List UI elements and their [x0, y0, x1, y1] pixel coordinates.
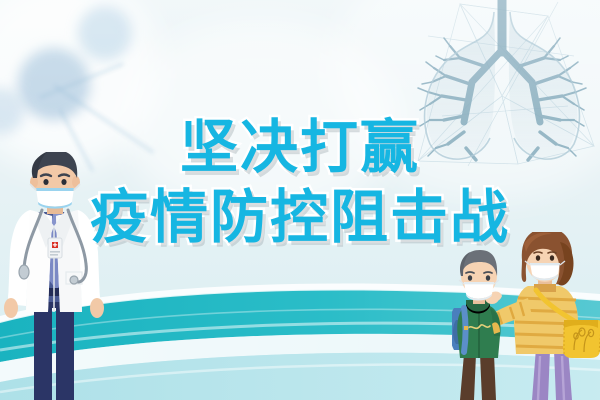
masked-woman-adjusting-boys-mask	[452, 232, 600, 400]
headline-translation: Resolutely Win the Battle of Epidemic Pr…	[0, 0, 1, 1]
masked-doctor-in-white-coat	[0, 152, 116, 400]
molecule-sphere-medium	[78, 6, 132, 60]
red-cross-id-badge	[48, 238, 62, 258]
yellow-shoulder-bag	[563, 320, 600, 358]
molecule-sphere-large	[18, 48, 90, 120]
background-glow-center	[120, 20, 400, 220]
lungs-bronchial-illustration	[398, 0, 600, 168]
poster-canvas: 坚决打赢 疫情防控阻击战 Resolutely Win the Battle o…	[0, 0, 600, 400]
